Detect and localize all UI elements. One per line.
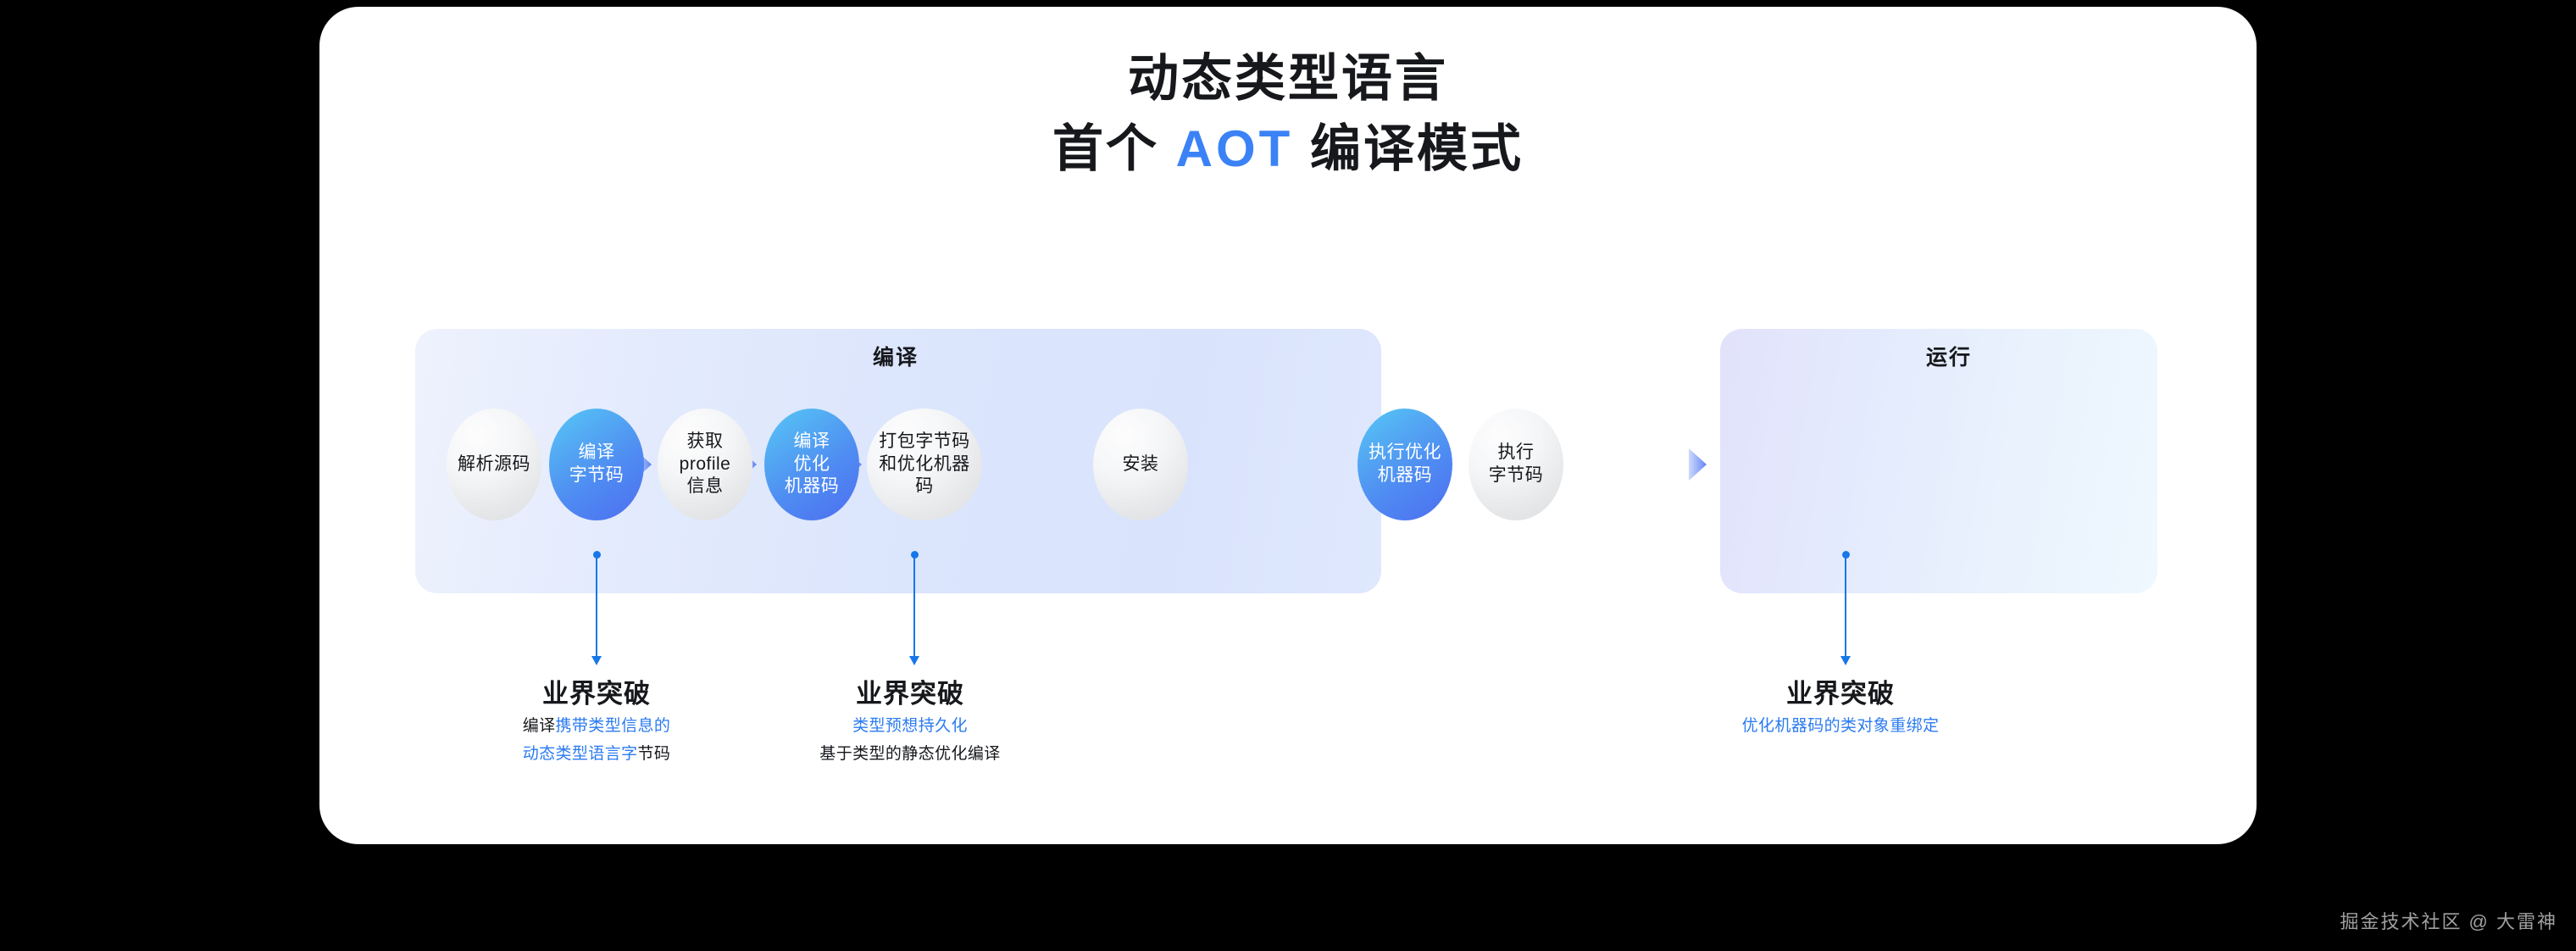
panel-label-runtime: 运行: [1926, 341, 1972, 371]
flow-node-get-profile[interactable]: 获取profile信息: [658, 409, 752, 520]
flow-node-package-output[interactable]: 打包字节码和优化机器码: [867, 409, 982, 520]
flow-node-label: 获取profile信息: [676, 431, 735, 499]
callout-title: 业界突破: [1646, 678, 2035, 711]
flow-node-install[interactable]: 安装: [1093, 409, 1188, 520]
callout-body: 优化机器码的类对象重绑定: [1646, 715, 2035, 739]
connector-arrowhead-icon: [1840, 656, 1851, 665]
flow-arrow-icon: [1689, 448, 1707, 481]
callout-title: 业界突破: [715, 678, 1105, 711]
flow-node-label: 安装: [1119, 453, 1163, 476]
panel-label-compile: 编译: [873, 341, 919, 371]
slide-canvas: 动态类型语言 首个 AOT 编译模式 编译 运行 解析源码 编译字节码: [0, 0, 2576, 951]
flow-diagram: 编译 运行 解析源码 编译字节码 获取profile信息 编译优化机器码 打包字…: [0, 0, 2576, 951]
flow-node-label: 打包字节码和优化机器码: [867, 431, 982, 499]
flow-node-parse-source[interactable]: 解析源码: [447, 409, 541, 520]
flow-node-run-bytecode[interactable]: 执行字节码: [1468, 409, 1563, 520]
flow-node-label: 执行优化机器码: [1365, 442, 1445, 487]
flow-node-label: 解析源码: [454, 453, 534, 476]
connector-stem: [596, 556, 597, 658]
flow-node-label: 执行字节码: [1485, 442, 1547, 487]
callout-breakthrough-3: 业界突破 优化机器码的类对象重绑定: [1646, 678, 2035, 739]
watermark: 掘金技术社区 @ 大雷神: [2340, 907, 2557, 934]
callout-body: 类型预想持久化基于类型的静态优化编译: [715, 715, 1105, 767]
flow-node-label: 编译优化机器码: [781, 431, 843, 499]
connector-stem: [913, 556, 915, 658]
flow-node-label: 编译字节码: [566, 442, 628, 487]
flow-node-compile-bytecode[interactable]: 编译字节码: [549, 409, 644, 520]
flow-node-compile-opt-machine[interactable]: 编译优化机器码: [764, 409, 859, 520]
connector-stem: [1845, 556, 1846, 658]
connector-arrowhead-icon: [909, 656, 919, 665]
flow-node-run-opt-machine[interactable]: 执行优化机器码: [1357, 409, 1452, 520]
connector-arrowhead-icon: [591, 656, 602, 665]
callout-breakthrough-2: 业界突破 类型预想持久化基于类型的静态优化编译: [715, 678, 1105, 767]
